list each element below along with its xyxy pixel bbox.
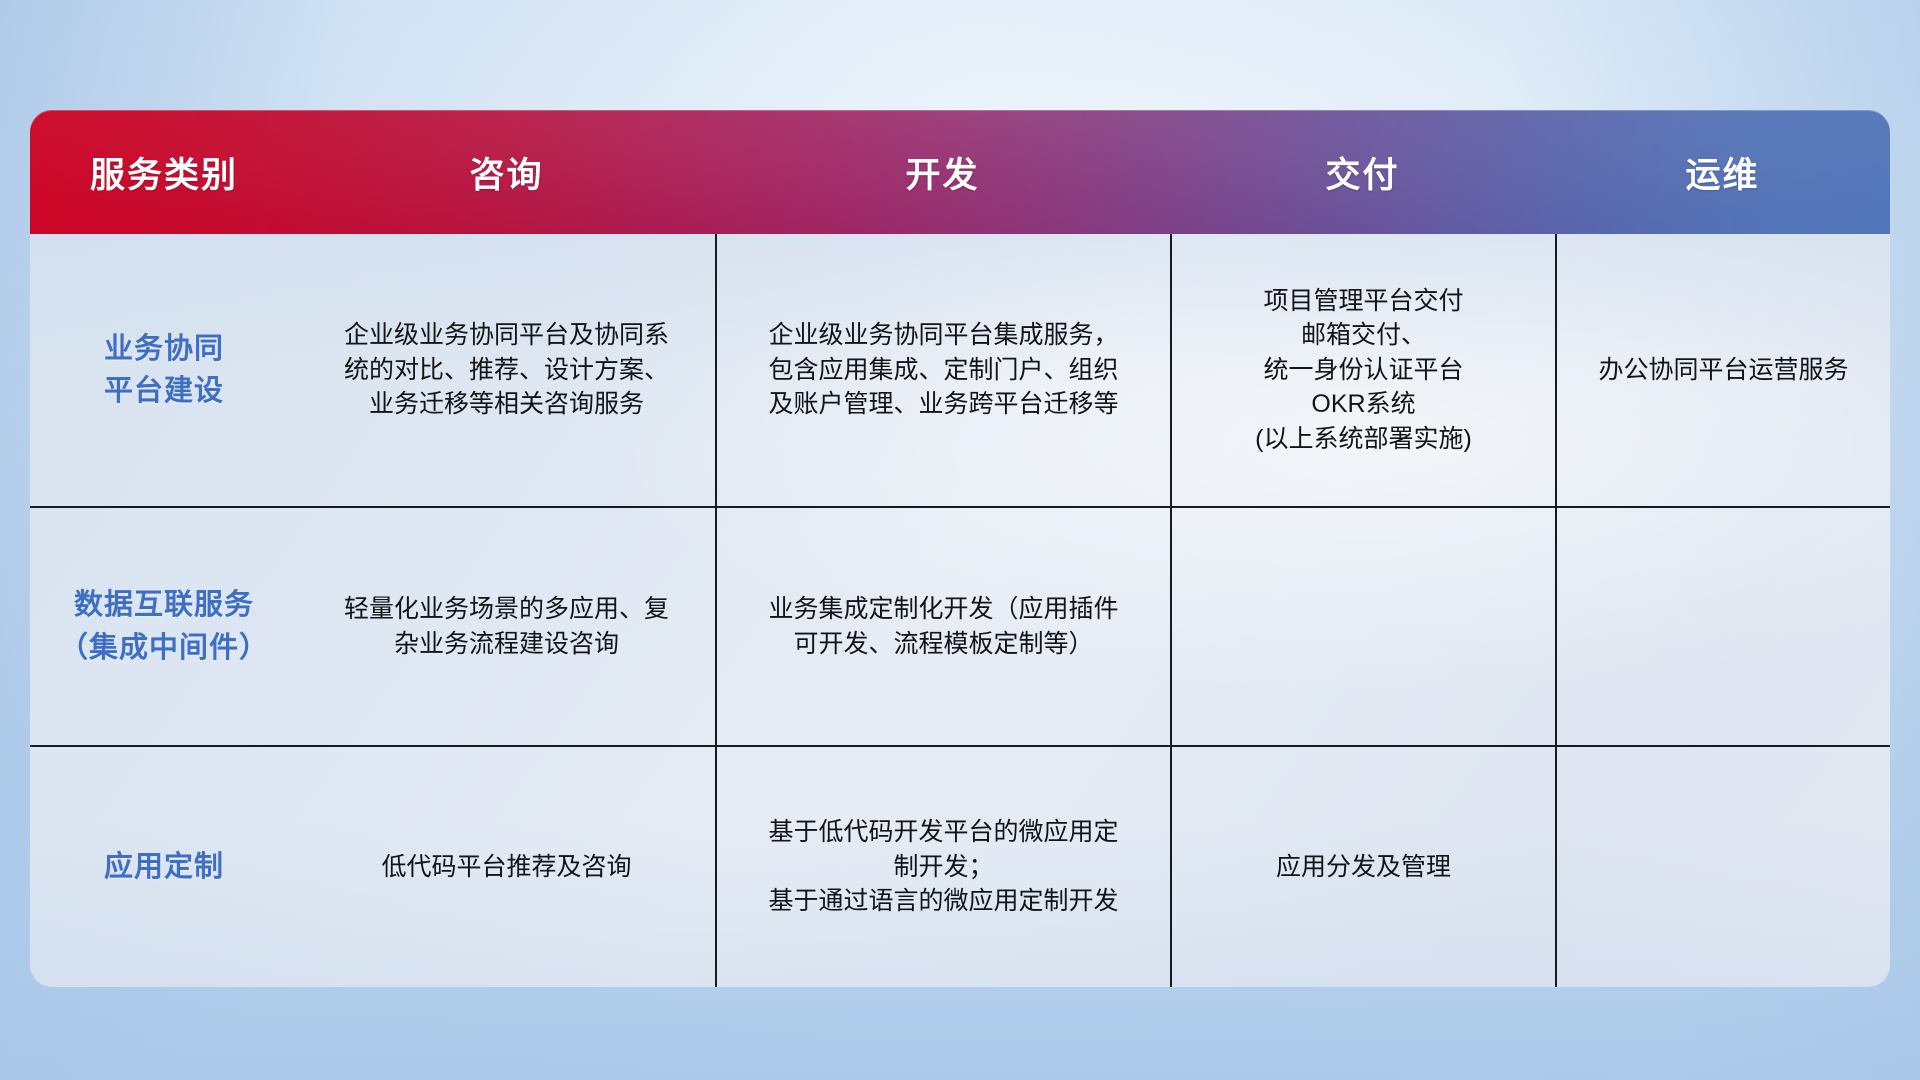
row-label-app-customization: 应用定制: [30, 747, 298, 987]
table-body: 业务协同 平台建设 企业级业务协同平台及协同系 统的对比、推荐、设计方案、 业务…: [30, 234, 1890, 987]
cell-development-row-3: 基于低代码开发平台的微应用定 制开发； 基于通过语言的微应用定制开发: [715, 747, 1170, 987]
row-label-data-integration: 数据互联服务 （集成中间件）: [30, 508, 298, 745]
table-header-row: 服务类别 咨询 开发 交付 运维: [30, 110, 1890, 234]
services-table: 服务类别 咨询 开发 交付 运维 业务协同 平台建设 企业级业务协同平台及协同系…: [30, 110, 1890, 987]
cell-development-row-2: 业务集成定制化开发（应用插件 可开发、流程模板定制等）: [715, 508, 1170, 745]
cell-delivery-row-2: [1170, 508, 1555, 745]
cell-consulting-row-2: 轻量化业务场景的多应用、复 杂业务流程建设咨询: [298, 508, 715, 745]
cell-delivery-row-1: 项目管理平台交付 邮箱交付、 统一身份认证平台 OKR系统 (以上系统部署实施): [1170, 234, 1555, 506]
column-header-development: 开发: [715, 147, 1170, 198]
cell-operations-row-1: 办公协同平台运营服务: [1555, 234, 1890, 506]
column-header-delivery: 交付: [1170, 147, 1555, 198]
cell-consulting-row-1: 企业级业务协同平台及协同系 统的对比、推荐、设计方案、 业务迁移等相关咨询服务: [298, 234, 715, 506]
table-row: 数据互联服务 （集成中间件） 轻量化业务场景的多应用、复 杂业务流程建设咨询 业…: [30, 506, 1890, 745]
row-label-business-collaboration: 业务协同 平台建设: [30, 234, 298, 506]
table-row: 业务协同 平台建设 企业级业务协同平台及协同系 统的对比、推荐、设计方案、 业务…: [30, 234, 1890, 506]
cell-development-row-1: 企业级业务协同平台集成服务， 包含应用集成、定制门户、组织 及账户管理、业务跨平…: [715, 234, 1170, 506]
cell-consulting-row-3: 低代码平台推荐及咨询: [298, 747, 715, 987]
column-header-category: 服务类别: [30, 147, 298, 198]
table-row: 应用定制 低代码平台推荐及咨询 基于低代码开发平台的微应用定 制开发； 基于通过…: [30, 745, 1890, 987]
cell-operations-row-3: [1555, 747, 1890, 987]
column-header-operations: 运维: [1555, 147, 1890, 198]
cell-operations-row-2: [1555, 508, 1890, 745]
cell-delivery-row-3: 应用分发及管理: [1170, 747, 1555, 987]
column-header-consulting: 咨询: [298, 147, 715, 198]
